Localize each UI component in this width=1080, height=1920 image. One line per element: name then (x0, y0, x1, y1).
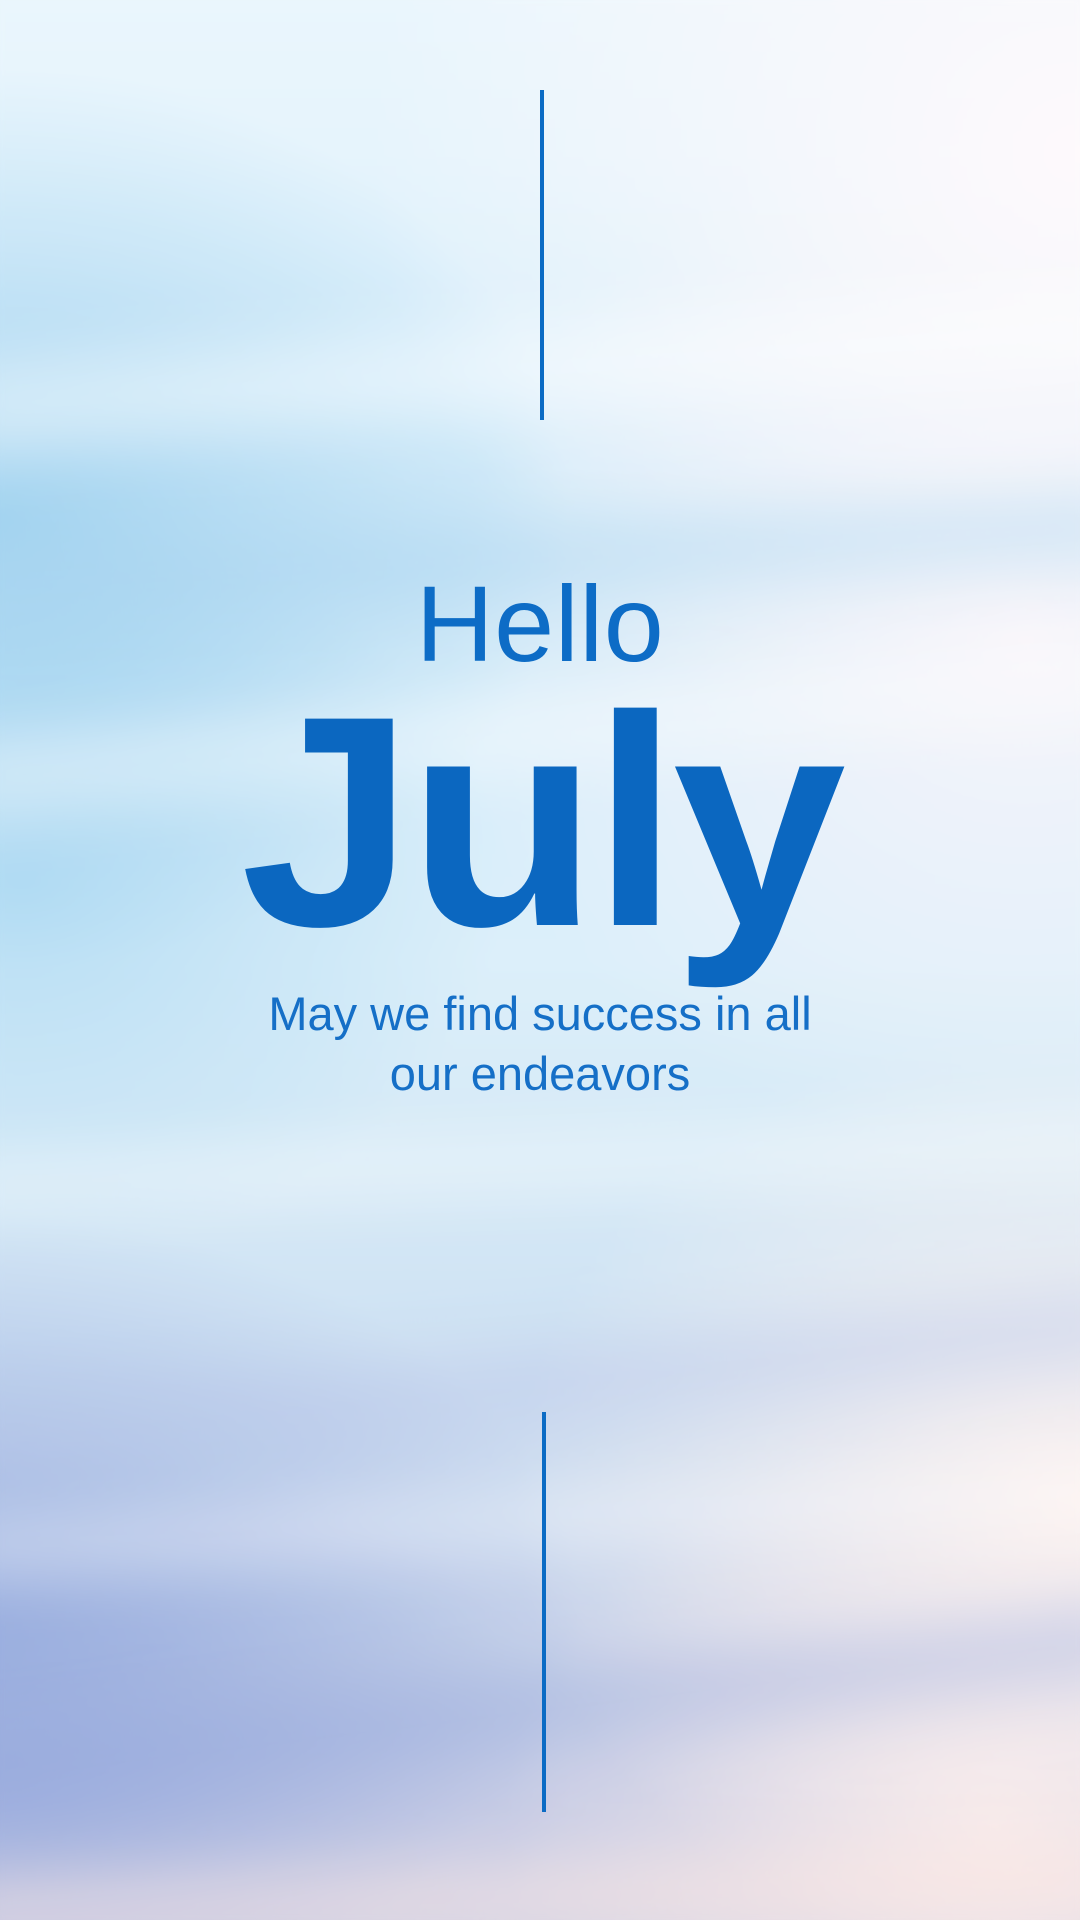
month-title: July (240, 692, 839, 950)
top-divider-line (540, 90, 544, 420)
poster-content: Hello July May we find success in all ou… (0, 0, 1080, 1920)
tagline: May we find success in all our endeavors (268, 984, 811, 1104)
bottom-divider-line (542, 1412, 546, 1812)
july-greeting-poster: Hello July May we find success in all ou… (0, 0, 1080, 1920)
headline-block: Hello July May we find success in all ou… (0, 570, 1080, 1104)
tagline-line-2: our endeavors (268, 1044, 811, 1104)
tagline-line-1: May we find success in all (268, 984, 811, 1044)
